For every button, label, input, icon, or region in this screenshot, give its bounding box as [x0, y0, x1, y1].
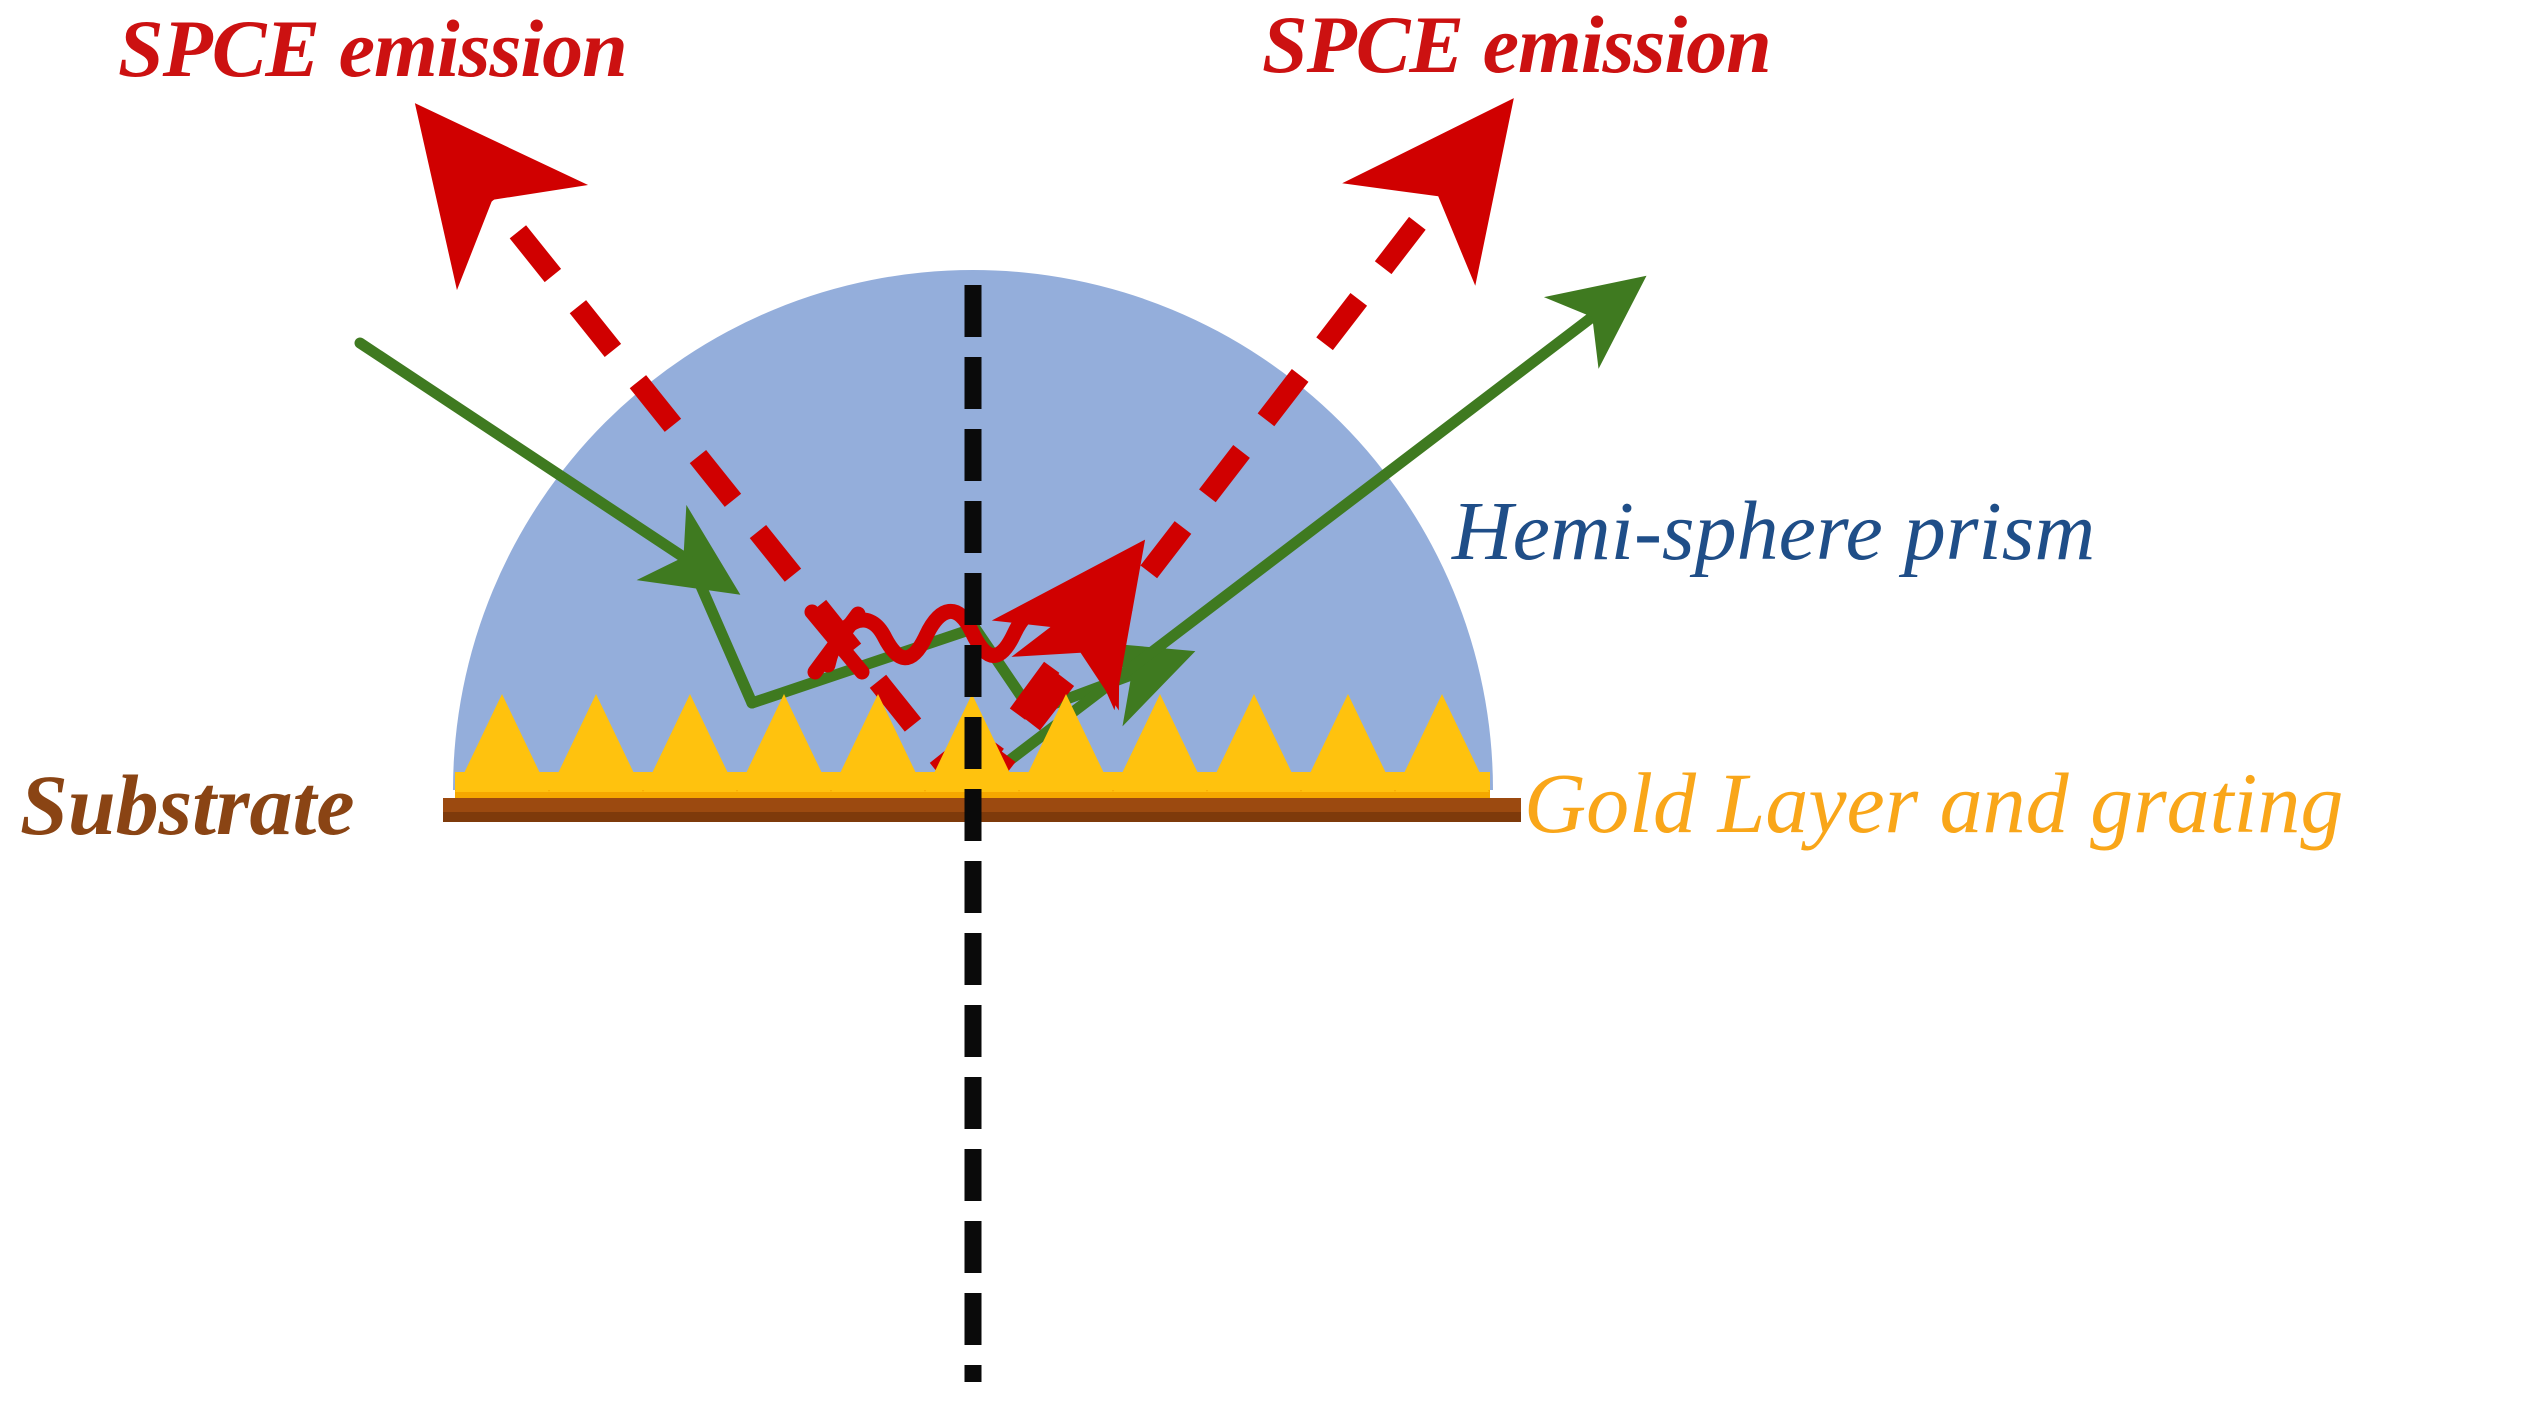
substrate-bar-group [443, 798, 1521, 822]
figure-canvas: SPCE emission SPCE emission Hemi-sphere … [0, 0, 2532, 1419]
spce-diagram [0, 0, 2532, 1419]
label-hemisphere-prism: Hemi-sphere prism [1452, 490, 2095, 574]
substrate-bar-shade [443, 812, 1521, 822]
label-substrate: Substrate [20, 762, 355, 848]
label-spce-emission-right: SPCE emission [1262, 4, 1771, 86]
label-gold-layer-and-grating: Gold Layer and grating [1524, 760, 2343, 846]
label-spce-emission-left: SPCE emission [118, 8, 627, 90]
